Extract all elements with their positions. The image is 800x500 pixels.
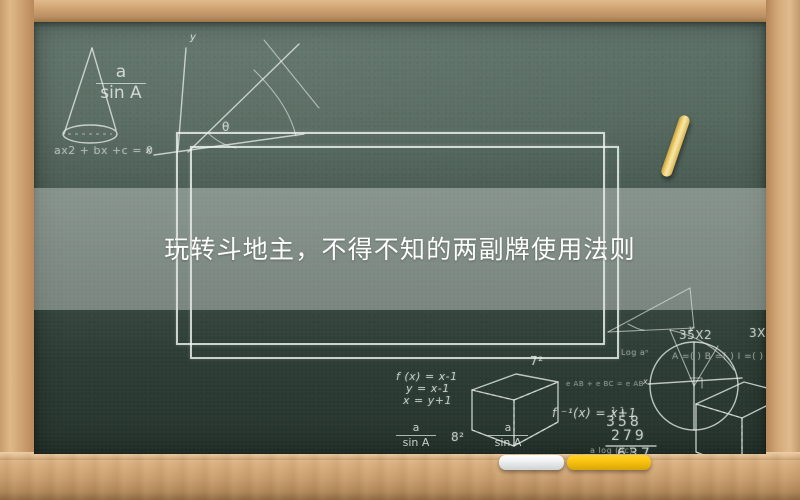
chalk-law-of-sines-b: asin A <box>488 422 528 448</box>
addition-bar <box>604 444 664 448</box>
chalk-fx-line2: y = x-1 <box>406 382 450 395</box>
chalk-label-axis-y: y <box>190 32 196 43</box>
chalk-label-axis-x: x <box>146 145 152 156</box>
chalk-fx-line3: x = y+1 <box>403 394 452 407</box>
chalk-inverse-function: f ⁻¹(x) = x+1 <box>552 406 637 420</box>
chalk-axis-y-2: y <box>689 324 694 333</box>
frame-left-rail <box>0 0 34 500</box>
circle-diagram <box>642 322 766 452</box>
frame-right-rail <box>766 0 800 500</box>
chalk-addend-1: 358 <box>606 414 642 430</box>
chalk-sum: 637 <box>617 446 653 454</box>
frame-top-rail <box>0 0 800 22</box>
chalk-quadratic-equation: ax2 + bx +c = 0 <box>54 144 153 157</box>
chalk-stick-white-tray <box>499 455 564 470</box>
chalk-matrix-row: A =( ) B =( ) I =( ) <box>672 352 764 362</box>
chalk-matrix-label-1: 35X2 <box>679 328 712 342</box>
chalk-addend-2: 279 <box>611 428 647 444</box>
cube-diagram-2 <box>644 360 766 454</box>
chalk-log-an: Log aⁿ <box>621 348 649 357</box>
chalk-law-of-sines-a: asin A <box>396 422 436 448</box>
chalk-log-ab: a log (bc) <box>590 446 633 454</box>
cube-diagram <box>454 360 564 450</box>
chalk-stick-yellow-board <box>660 114 691 178</box>
chalk-axis-x-2: x <box>643 377 648 386</box>
chalk-stick-yellow-tray <box>567 455 651 470</box>
cone-diagram <box>48 42 178 172</box>
chalk-law-of-sines-top: asin A <box>96 64 146 103</box>
chalk-vector-sum: e AB + e BC = e AB <box>566 380 644 388</box>
chalkboard-surface: y x θ asin A ax2 + bx +c = 0 f (x) = x-1… <box>34 22 766 454</box>
chalkboard-banner: y x θ asin A ax2 + bx +c = 0 f (x) = x-1… <box>0 0 800 500</box>
chalk-tray-grain <box>0 454 800 500</box>
chalk-eight-squared: 8² <box>451 430 464 444</box>
chalk-matrix-label-2: 3X2 <box>749 326 766 340</box>
page-title: 玩转斗地主，不得不知的两副牌使用法则 <box>34 218 766 278</box>
chalk-carry-marks: 1 1 <box>611 406 625 415</box>
chalk-fx-line1: f (x) = x-1 <box>396 370 458 383</box>
